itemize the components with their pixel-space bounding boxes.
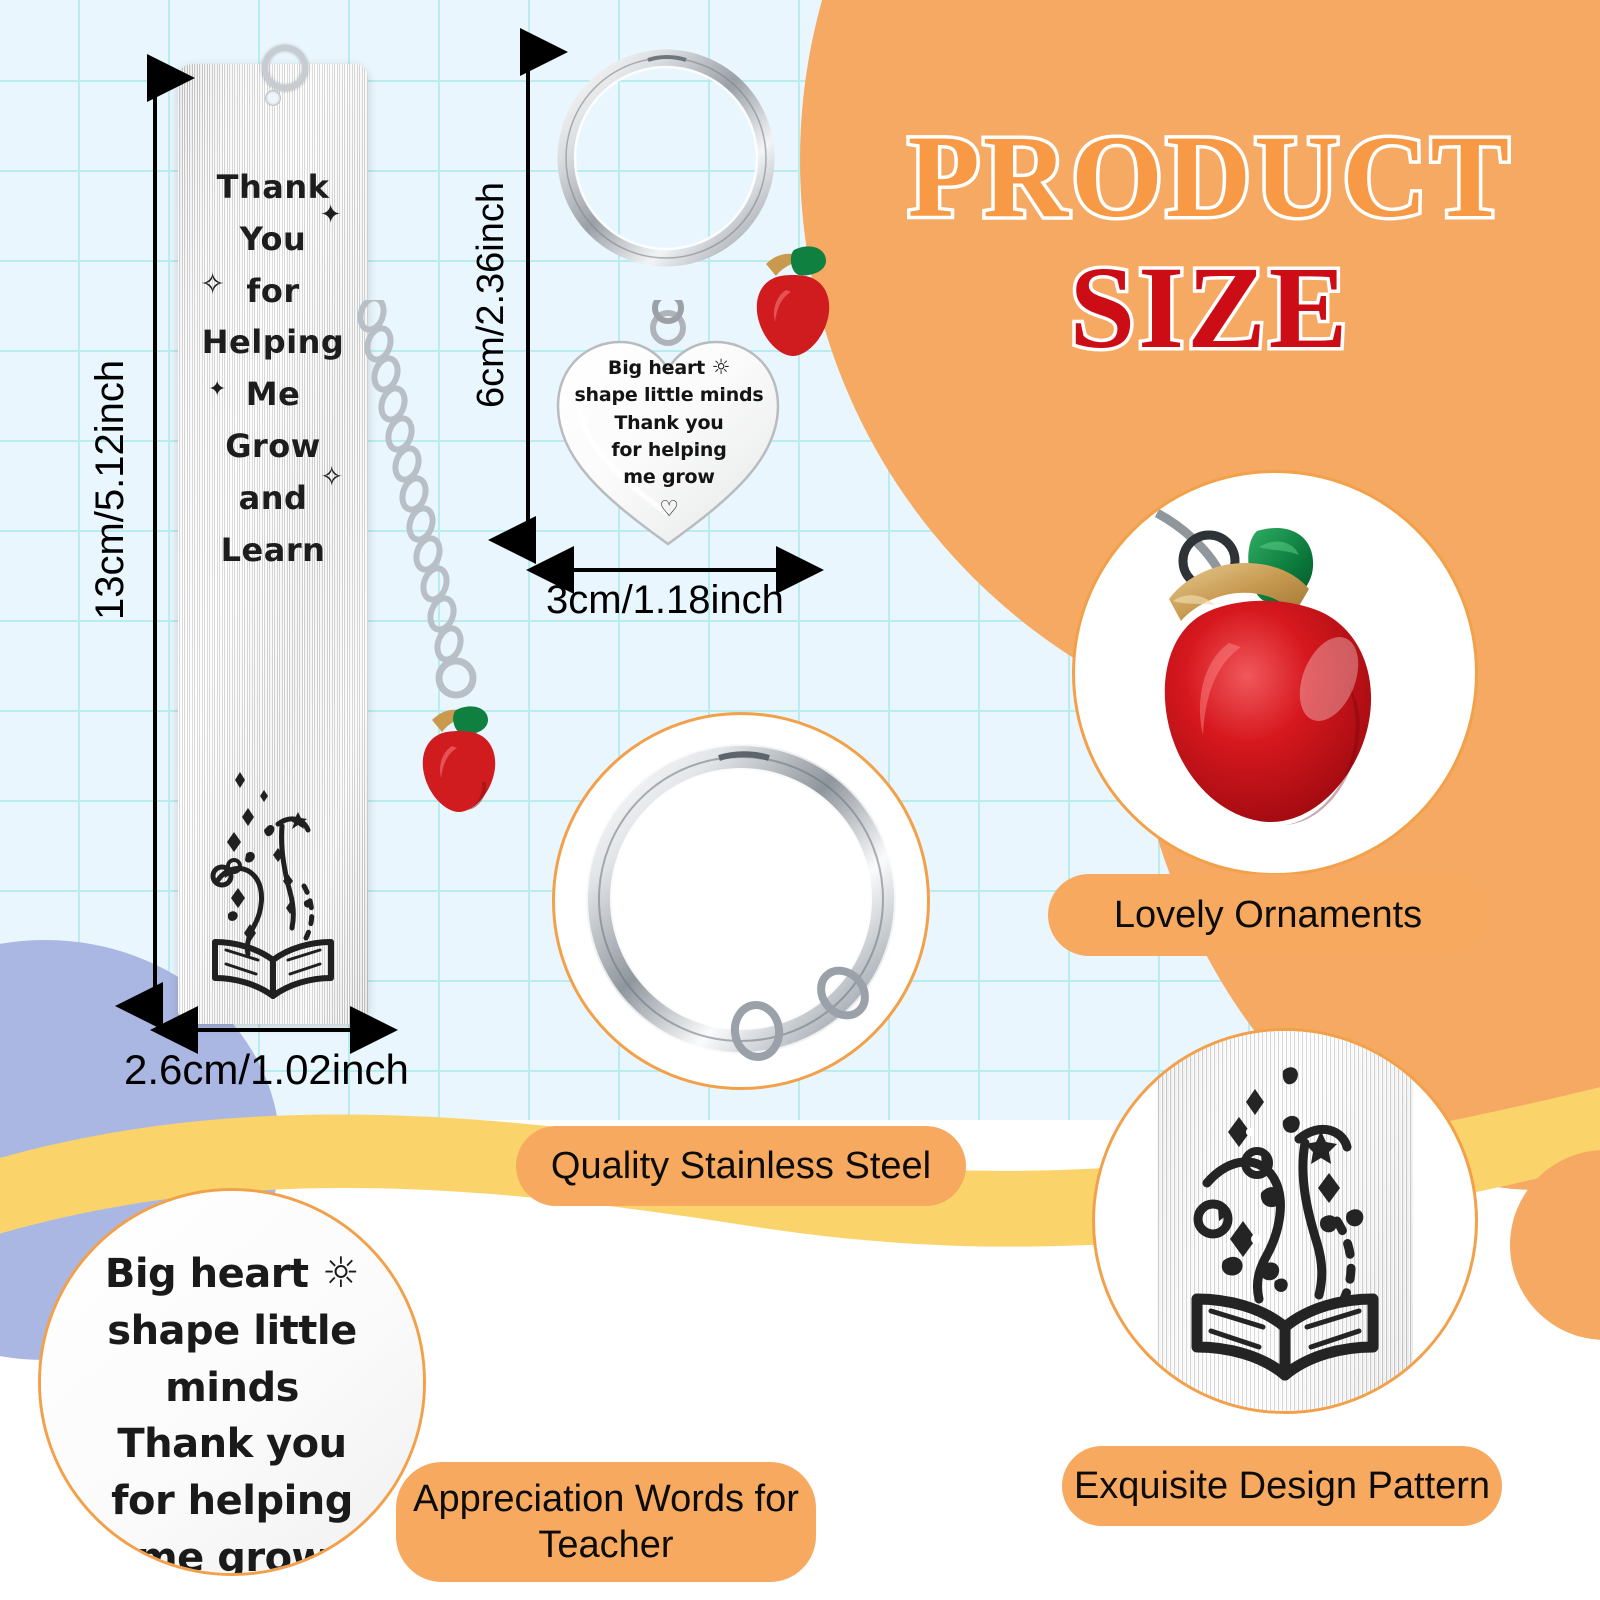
heart-closeup-text: Big heart ☼ shape little minds Thank you… <box>38 1243 426 1576</box>
sparkle-icon: ✧ <box>200 270 226 300</box>
feature-label-appreciation-words: Appreciation Words for Teacher <box>396 1462 816 1582</box>
bookmark-line: and ✧ <box>178 473 368 525</box>
bookmark-line: Learn <box>178 525 368 577</box>
dimension-label-bookmark-height: 13cm/5.12inch <box>88 360 133 620</box>
dimension-label-heart-width: 3cm/1.18inch <box>546 578 784 623</box>
bookmark-line-text: and <box>239 479 308 517</box>
inset-apple-closeup <box>1072 470 1478 876</box>
bookmark-line-text: for <box>246 272 299 310</box>
bookmark-line-text: You <box>240 220 307 258</box>
stainless-key-ring-icon <box>571 731 911 1071</box>
heart-line: shape little minds <box>38 1303 426 1417</box>
sun-icon: ☼ <box>322 1248 359 1297</box>
apple-charm-icon <box>404 690 514 818</box>
heart-line: Big heart ☼ <box>38 1243 426 1303</box>
book-sparkle-engraving-icon <box>1115 1055 1455 1389</box>
bookmark-engraved-text: Thank You ✦ ✧ for Helping ✦ Me Grow and … <box>178 162 368 577</box>
inset-keyring-closeup <box>552 712 930 1090</box>
heart-line-text: Big heart <box>608 357 705 379</box>
bookmark-line: Helping <box>178 317 368 369</box>
dimension-label-bookmark-width: 2.6cm/1.02inch <box>124 1046 409 1094</box>
apple-charm-keychain-icon <box>740 232 850 360</box>
red-apple-icon <box>1133 503 1443 843</box>
page-title: PRODUCT SIZE <box>830 118 1590 368</box>
sparkle-icon: ✦ <box>320 202 342 228</box>
heart-line: me grow <box>556 464 782 491</box>
feature-label-lovely-ornaments: Lovely Ornaments <box>1048 874 1488 956</box>
sparkle-icon: ✧ <box>320 463 344 491</box>
heart-pendant-text: Big heart ☼ shape little minds Thank you… <box>556 352 782 525</box>
bookmark-product: Thank You ✦ ✧ for Helping ✦ Me Grow and … <box>178 64 368 1024</box>
bookmark-line: You ✦ <box>178 214 368 266</box>
dimension-label-keychain-height: 6cm/2.36inch <box>470 182 513 408</box>
title-size: SIZE <box>830 248 1590 368</box>
sparkle-icon: ✦ <box>208 379 227 401</box>
heart-line: Thank you <box>38 1416 426 1473</box>
heart-outline-icon: ♡ <box>556 494 782 526</box>
title-product: PRODUCT <box>830 118 1590 236</box>
inset-heart-text-closeup: Big heart ☼ shape little minds Thank you… <box>38 1188 426 1576</box>
heart-line: shape little minds <box>556 382 782 409</box>
bookmark-jump-ring <box>262 45 308 91</box>
sun-icon: ☼ <box>711 355 730 379</box>
heart-line: for helping <box>556 437 782 464</box>
bookmark-line-text: Me <box>246 375 301 413</box>
heart-line: for helping <box>38 1473 426 1530</box>
book-sparkle-engraving-icon <box>178 754 368 1004</box>
bookmark-line: ✧ for <box>178 266 368 318</box>
heart-line-text: Big heart <box>105 1251 309 1297</box>
bookmark-hole <box>265 90 281 106</box>
heart-line: me grow <box>38 1530 426 1576</box>
heart-line: Thank you <box>556 410 782 437</box>
feature-label-exquisite-design-pattern: Exquisite Design Pattern <box>1062 1446 1502 1526</box>
feature-label-quality-stainless-steel: Quality Stainless Steel <box>516 1126 966 1206</box>
bookmark-line: ✦ Me <box>178 369 368 421</box>
infographic-canvas: PRODUCT SIZE Thank You ✦ ✧ for Helping ✦… <box>0 0 1600 1600</box>
inset-engraving-closeup <box>1092 1028 1478 1414</box>
